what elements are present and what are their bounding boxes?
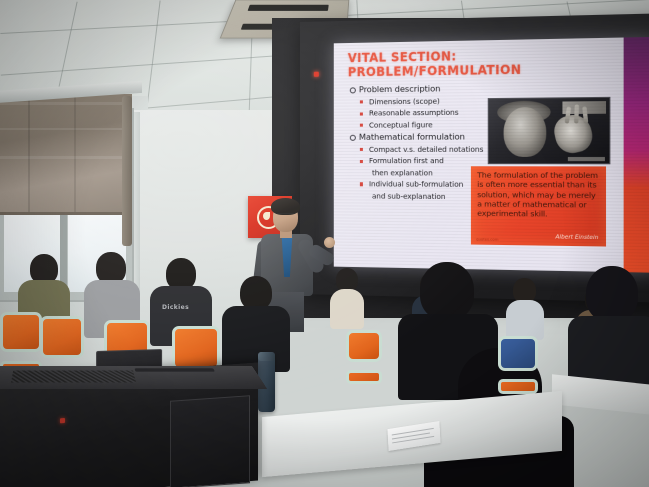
projection-screen: VITAL SECTION: PROBLEM/FORMULATION Probl… <box>300 13 649 303</box>
chair-backrest <box>0 312 42 352</box>
quote-text: The formulation of the problem is often … <box>477 170 601 219</box>
einstein-photo <box>488 97 611 164</box>
cabinet-vent-mesh <box>11 371 136 383</box>
window-blind[interactable] <box>0 94 132 215</box>
jacket-logo-text: Dickies <box>162 304 189 311</box>
bullet-level1: Problem description <box>350 81 526 96</box>
presenter-glasses <box>276 213 295 218</box>
portrait-logo <box>562 101 606 114</box>
quote-author: Albert Einstein <box>555 234 598 241</box>
classroom-chair[interactable] <box>346 330 382 384</box>
chair-backrest <box>498 336 538 371</box>
chair-seat <box>498 379 538 394</box>
chair-backrest <box>346 330 382 362</box>
cabinet-top-surface <box>0 366 267 389</box>
portrait-caption-bar <box>568 157 605 161</box>
classroom-chair[interactable] <box>498 336 538 394</box>
slide-title-line2: PROBLEM/FORMULATION <box>348 61 579 79</box>
slide-title: VITAL SECTION: PROBLEM/FORMULATION <box>348 47 579 80</box>
einstein-quote-box: The formulation of the problem is often … <box>471 166 606 246</box>
chair-backrest <box>40 316 84 358</box>
student-seated <box>506 278 544 336</box>
quote-source: quotes.com <box>476 237 498 241</box>
presenter-hand <box>324 237 335 248</box>
classroom-lecture-photo: VITAL SECTION: PROBLEM/FORMULATION Probl… <box>0 0 649 487</box>
blind-roller[interactable] <box>122 96 132 246</box>
student-seated <box>330 268 364 326</box>
screen-power-led <box>314 72 319 77</box>
cabinet-power-led <box>60 418 65 423</box>
cabinet-cable-slot <box>135 368 215 371</box>
slide-accent-band <box>624 37 649 273</box>
chair-backrest <box>172 326 220 370</box>
bottle-cap <box>258 352 275 361</box>
cabinet-door[interactable] <box>170 395 250 487</box>
chair-seat <box>346 370 382 384</box>
portrait-face <box>504 107 547 157</box>
presentation-slide: VITAL SECTION: PROBLEM/FORMULATION Probl… <box>334 37 649 273</box>
student-seated <box>222 276 290 368</box>
